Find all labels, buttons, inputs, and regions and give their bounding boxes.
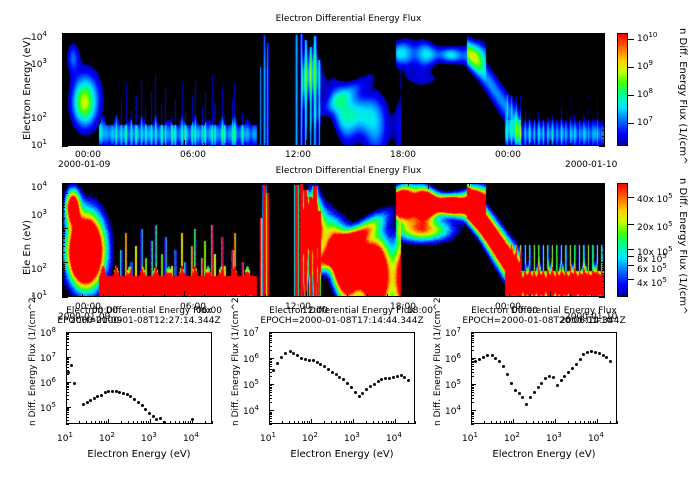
panel-mid-ytick-2: 102	[31, 262, 47, 275]
spectrum-yminor-tick	[471, 362, 474, 363]
panel-mid-xtick	[245, 183, 246, 186]
overlapping-axis-label: 18:00	[407, 306, 433, 316]
spectrum-yminor-tick	[471, 336, 474, 337]
spectrum-yminor-tick	[66, 414, 69, 415]
data-point	[498, 360, 501, 363]
data-point	[563, 375, 566, 378]
panel-mid-xtick	[530, 294, 531, 297]
panel-top-ytick	[62, 43, 68, 44]
spectrum-yminor-tick	[269, 416, 272, 417]
data-point	[548, 375, 551, 378]
spectrum-xtick-mark	[555, 419, 556, 424]
spectrum-xminor-tick	[491, 421, 492, 424]
panel-top-ytick-1: 103	[31, 57, 47, 70]
panel-top-xtick	[123, 143, 124, 146]
panel-top-xtick-3: 18:00	[390, 150, 416, 160]
panel-mid-ytick	[62, 238, 65, 239]
spectrum-xminor-tick	[408, 421, 409, 424]
spectrum-yminor-tick	[66, 383, 69, 384]
spectrum-xminor-tick	[511, 421, 512, 424]
spectrum-yminor-tick	[66, 386, 69, 387]
data-point	[567, 371, 570, 374]
spectrum-xminor-tick	[496, 421, 497, 424]
spectrum-xminor-tick	[212, 421, 213, 424]
data-point	[335, 373, 338, 376]
panel-top-xtick	[591, 143, 592, 146]
panel-top-ytick	[599, 78, 605, 79]
spectrum-xminor-tick	[351, 421, 352, 424]
panel-top-ytick	[62, 146, 68, 147]
data-point	[518, 392, 521, 395]
spectrum-ytick: 105	[445, 378, 461, 391]
panel-mid-ytick	[602, 266, 605, 267]
spectrum-xtick: 104	[386, 431, 402, 444]
data-point	[540, 382, 543, 385]
spectrum-xminor-tick	[143, 421, 144, 424]
spectrum-xminor-tick	[349, 421, 350, 424]
panel-mid-ytick	[602, 276, 605, 277]
spectrum-xtick-mark	[597, 419, 598, 424]
data-point	[292, 352, 295, 355]
data-point	[506, 373, 509, 376]
spectrum-xtick: 102	[302, 431, 318, 444]
panel-top-cbtick-1: 109	[637, 59, 653, 72]
panel-mid-ytick	[599, 262, 605, 263]
data-point	[350, 386, 353, 389]
spectrum-yminor-tick	[471, 340, 474, 341]
panel-top-xtick	[448, 33, 449, 36]
data-point	[300, 357, 303, 360]
panel-mid-colorbar-tick	[628, 249, 634, 250]
panel-mid-xtick	[245, 294, 246, 297]
spectrum-ylabel: n Diff. Energy Flux (1/(cm^2-	[231, 294, 241, 426]
spectrum-yminor-tick	[66, 387, 69, 388]
panel-top-ytick	[62, 57, 65, 58]
panel-mid-ytick	[602, 238, 605, 239]
data-point	[590, 350, 593, 353]
data-point	[384, 377, 387, 380]
spectrum-yminor-tick	[66, 399, 69, 400]
panel-mid-ytick	[62, 228, 68, 229]
spectrum-xminor-tick	[595, 421, 596, 424]
overlapping-axis-label: 00:00	[512, 306, 538, 316]
panel-mid-ytick	[602, 246, 605, 247]
data-point	[133, 398, 136, 401]
spectrum-xminor-tick	[617, 421, 618, 424]
spectrum-xminor-tick	[484, 421, 485, 424]
spectrum-plot-area[interactable]	[471, 332, 617, 424]
panel-top-ytick	[602, 49, 605, 50]
panel-top-xtick	[387, 143, 388, 146]
panel-mid-xtick	[469, 294, 470, 297]
panel-top-xtick-2: 12:00	[285, 150, 311, 160]
spectrum-yminor-tick	[471, 395, 474, 396]
spectrum-yminor-tick	[66, 336, 69, 337]
data-point	[289, 350, 292, 353]
spectrum-yminor-tick	[471, 402, 474, 403]
data-point	[365, 388, 368, 391]
spectrum-xminor-tick	[282, 421, 283, 424]
data-point	[502, 365, 505, 368]
spectrum-xminor-tick	[188, 421, 189, 424]
spectrum-yminor-tick	[471, 416, 474, 417]
panel-top-ytick	[602, 67, 605, 68]
spectrum-xtick: 104	[588, 431, 604, 444]
panel-top-ytick	[602, 113, 605, 114]
data-point	[73, 382, 76, 385]
spectrum-yminor-tick	[471, 398, 474, 399]
panel-mid-xtick	[489, 183, 490, 186]
spectrum-yminor-tick	[269, 342, 272, 343]
data-point	[316, 361, 319, 364]
spectrum-yminor-tick	[66, 342, 69, 343]
panel-top-xtick-0: 00:00	[75, 150, 101, 160]
spectrum-xminor-tick	[99, 421, 100, 424]
spectrum-yminor-tick	[66, 370, 69, 371]
data-point	[338, 376, 341, 379]
panel-mid-ytick	[602, 270, 605, 271]
panel-mid-xtick	[509, 294, 510, 297]
panel-top-cbtick-2: 108	[637, 87, 653, 100]
spectrum-ytick: 106	[243, 352, 259, 365]
panel-top-xtick	[326, 143, 327, 146]
overlapping-axis-label: 06:00	[196, 306, 222, 316]
spectrum-yminor-tick	[66, 409, 69, 410]
spectrum-xminor-tick	[336, 421, 337, 424]
panel-mid-xtick	[286, 183, 287, 186]
spectrum-yminor-tick	[471, 369, 474, 370]
panel-mid-xtick	[265, 294, 266, 297]
data-point	[491, 354, 494, 357]
data-point	[494, 357, 497, 360]
panel-mid-ytick	[602, 252, 605, 253]
spectrum-xminor-tick	[91, 421, 92, 424]
spectrum-xminor-tick	[393, 421, 394, 424]
panel-top-ytick	[62, 112, 68, 113]
panel-top-xtick	[286, 33, 287, 36]
spectrum-xminor-tick	[141, 421, 142, 424]
data-point	[609, 360, 612, 363]
panel-top-ytick	[602, 119, 605, 120]
panel-top-ytick	[62, 49, 65, 50]
panel-top-xtick	[265, 143, 266, 146]
spectrum-yminor-tick	[471, 412, 474, 413]
panel-top-xtick	[387, 33, 388, 36]
panel-mid-ytick	[602, 242, 605, 243]
data-point	[407, 379, 410, 382]
panel-mid-ytick	[62, 183, 65, 184]
panel-top-colorbar[interactable]	[617, 33, 628, 146]
panel-top-xtick	[570, 33, 571, 36]
spectrum-xtick-mark	[192, 419, 193, 424]
panel-mid-xtick	[225, 183, 226, 186]
data-point	[308, 359, 311, 362]
panel-mid-ytick	[62, 270, 65, 271]
panel-mid-ytick	[599, 228, 605, 229]
spectrum-xminor-tick	[548, 421, 549, 424]
spectrum-yminor-tick	[471, 392, 474, 393]
panel-top-ytick	[602, 57, 605, 58]
panel-top-xtick-1: 06:00	[180, 150, 206, 160]
panel-mid-xtick	[143, 294, 144, 297]
panel-top-xtick	[103, 33, 104, 36]
data-point	[400, 374, 403, 377]
spectrum-ytick: 105	[40, 401, 56, 414]
panel-top-xtick	[204, 143, 205, 146]
panel-top-xtick	[448, 143, 449, 146]
data-point	[284, 352, 287, 355]
data-point	[354, 391, 357, 394]
spectrum-yminor-tick	[471, 424, 474, 425]
panel-mid-ytick	[602, 231, 605, 232]
panel-mid-ytick	[62, 266, 65, 267]
panel-top-xtick	[123, 33, 124, 36]
panel-mid-xtick	[570, 183, 571, 186]
panel-top-xtick	[509, 143, 510, 146]
spectrum-yminor-tick	[269, 392, 272, 393]
spectrum-xminor-tick	[307, 421, 308, 424]
spectrum-xminor-tick	[133, 421, 134, 424]
spectrum-yminor-tick	[471, 414, 474, 415]
panel-mid-xtick	[82, 294, 83, 297]
spectrum-xminor-tick	[593, 421, 594, 424]
panel-mid-xtick	[408, 294, 409, 297]
panel-top-xtick	[408, 33, 409, 36]
panel-mid-xtick	[103, 183, 104, 186]
spectrum-xminor-tick	[86, 421, 87, 424]
spectrum-xtick: 104	[183, 431, 199, 444]
panel-mid-title: Electron Differential Energy Flux	[0, 166, 697, 176]
panel-mid-xtick	[143, 183, 144, 186]
spectrum-xminor-tick	[533, 421, 534, 424]
spectrum-xminor-tick	[504, 421, 505, 424]
spectrum-xminor-tick	[538, 421, 539, 424]
spectrum-xminor-tick	[551, 421, 552, 424]
panel-mid-ytick	[62, 201, 65, 202]
data-point	[280, 356, 283, 359]
panel-top-ytick	[62, 130, 65, 131]
panel-mid-xtick	[570, 294, 571, 297]
spectrum-plot-area[interactable]	[66, 332, 212, 424]
panel-mid-ytick	[62, 230, 65, 231]
data-point	[319, 363, 322, 366]
spectrum-xtick-mark	[108, 419, 109, 424]
panel-top-xtick	[306, 140, 307, 146]
spectrum-xminor-tick	[373, 421, 374, 424]
data-point	[396, 375, 399, 378]
spectrum-xminor-tick	[170, 421, 171, 424]
spectrum-yminor-tick	[269, 359, 272, 360]
spectrum-xtick: 102	[99, 431, 115, 444]
spectrum-xminor-tick	[500, 421, 501, 424]
spectrum-yminor-tick	[269, 385, 272, 386]
panel-mid-xtick	[82, 183, 83, 186]
spectrum-plot-area[interactable]	[269, 332, 415, 424]
spectrum-xminor-tick	[183, 421, 184, 424]
spectrum-xminor-tick	[568, 421, 569, 424]
data-point	[560, 379, 563, 382]
panel-top-colorbar-label: n Diff. Energy Flux (1/(cm^	[677, 28, 688, 165]
overlapping-axis-label: 2000-01-10	[560, 316, 612, 326]
panel-top-ytick	[602, 33, 605, 34]
spectrum-yminor-tick	[66, 358, 69, 359]
data-point	[276, 362, 279, 365]
data-point	[89, 399, 92, 402]
panel-top-spectrogram[interactable]	[62, 33, 605, 146]
panel-mid-xtick	[387, 294, 388, 297]
panel-mid-cbtick-1: 20x 105	[637, 220, 673, 233]
spectrum-yminor-tick	[66, 417, 69, 418]
spectrum-ytick: 107	[40, 351, 56, 364]
data-point	[602, 354, 605, 357]
panel-mid-ytick	[62, 197, 65, 198]
panel-mid-ytick	[599, 193, 605, 194]
spectrum-xminor-tick	[331, 421, 332, 424]
spectrum-xminor-tick	[346, 421, 347, 424]
panel-mid-spectrogram[interactable]	[62, 183, 605, 297]
spectrum-yminor-tick	[269, 372, 272, 373]
data-point	[361, 392, 364, 395]
panel-top-ytick	[599, 43, 605, 44]
spectrum-yminor-tick	[269, 366, 272, 367]
data-point	[323, 365, 326, 368]
spectrum-yminor-tick	[66, 364, 69, 365]
spectrum-xminor-tick	[128, 421, 129, 424]
spectrum-yminor-tick	[269, 340, 272, 341]
data-point	[373, 383, 376, 386]
panel-mid-xtick	[408, 183, 409, 186]
panel-mid-colorbar-tick	[628, 256, 634, 257]
panel-top-xtick	[509, 33, 510, 36]
spectrum-yminor-tick	[66, 334, 69, 335]
panel-top-xtick	[550, 140, 551, 146]
data-point	[486, 354, 489, 357]
spectrum-xtick: 101	[57, 431, 73, 444]
spectrum-yminor-tick	[269, 412, 272, 413]
panel-top-xtick	[204, 33, 205, 36]
spectrum-xminor-tick	[391, 421, 392, 424]
overlapping-axis-label: 12:00	[302, 306, 328, 316]
panel-mid-colorbar-tick	[628, 265, 634, 266]
spectrum-yminor-tick	[471, 364, 474, 365]
panel-top-xtick	[164, 33, 165, 36]
panel-top-ytick	[602, 79, 605, 80]
panel-top-xtick	[367, 33, 368, 36]
spectrum-yminor-tick	[269, 424, 272, 425]
data-point	[122, 392, 125, 395]
overlapping-axis-label: 2000-01-09	[70, 316, 122, 326]
panel-top-ylabel: Electron Energy (eV)	[22, 37, 33, 140]
spectrum-xminor-tick	[190, 421, 191, 424]
panel-top-xtick	[225, 143, 226, 146]
data-point	[403, 376, 406, 379]
panel-mid-colorbar[interactable]	[617, 183, 628, 297]
spectrum-xminor-tick	[101, 421, 102, 424]
spectrum-yminor-tick	[269, 369, 272, 370]
panel-top-xtick	[530, 33, 531, 36]
data-point	[478, 358, 481, 361]
data-point	[96, 395, 99, 398]
panel-mid-ytick	[62, 287, 65, 288]
panel-mid-ytick	[62, 281, 65, 282]
panel-top-xtick	[428, 33, 429, 39]
data-point	[107, 390, 110, 393]
panel-top-xtick	[143, 33, 144, 36]
panel-top-xtick	[367, 143, 368, 146]
data-point	[346, 382, 349, 385]
spectrum-xtick: 103	[141, 431, 157, 444]
spectrum-yminor-tick	[471, 350, 474, 351]
panel-mid-xtick	[103, 294, 104, 297]
spectrum-ytick: 104	[243, 404, 259, 417]
panel-top-xtick	[306, 33, 307, 39]
spectrum-xminor-tick	[289, 421, 290, 424]
panel-mid-ytick	[602, 197, 605, 198]
data-point	[594, 351, 597, 354]
panel-top-xtick-4: 00:00	[495, 150, 521, 160]
panel-top-xtick	[245, 143, 246, 146]
panel-top-xtick	[408, 143, 409, 146]
panel-top-ytick	[62, 33, 65, 34]
panel-top-ytick	[602, 117, 605, 118]
panel-mid-ytick	[62, 233, 65, 234]
panel-mid-xtick	[123, 294, 124, 297]
spectrum-xminor-tick	[106, 421, 107, 424]
spectrum-yminor-tick	[66, 361, 69, 362]
spectrum-yminor-tick	[66, 338, 69, 339]
spectrum-yminor-tick	[269, 362, 272, 363]
spectrum-yminor-tick	[66, 424, 69, 425]
panel-top-ytick	[599, 112, 605, 113]
spectrum-xminor-tick	[590, 421, 591, 424]
panel-top-ytick-0: 104	[31, 30, 47, 43]
spectrum-yminor-tick	[269, 395, 272, 396]
spectrum-yminor-tick	[269, 414, 272, 415]
panel-top-ytick	[62, 79, 65, 80]
panel-mid-ytick	[62, 273, 65, 274]
panel-mid-ytick	[62, 207, 65, 208]
data-point	[327, 368, 330, 371]
panel-mid-xtick	[347, 183, 348, 186]
panel-top-ytick	[62, 101, 65, 102]
spectrum-yminor-tick	[269, 335, 272, 336]
data-point	[582, 353, 585, 356]
data-point	[126, 393, 129, 396]
panel-top-ytick	[62, 45, 65, 46]
spectrum-ytick: 105	[243, 378, 259, 391]
panel-mid-xtick	[509, 183, 510, 186]
panel-mid-xtick	[164, 294, 165, 297]
panel-mid-ytick-1: 103	[31, 208, 47, 221]
data-point	[529, 396, 532, 399]
panel-mid-ytick	[602, 204, 605, 205]
panel-mid-xtick	[591, 183, 592, 186]
spectrum-ytick: 108	[40, 326, 56, 339]
spectrum-xminor-tick	[148, 421, 149, 424]
panel-mid-xtick	[550, 183, 551, 189]
panel-top-ytick	[62, 81, 65, 82]
panel-mid-ytick	[62, 236, 65, 237]
spectrum-yminor-tick	[471, 333, 474, 334]
spectrum-yminor-tick	[66, 410, 69, 411]
panel-mid-colorbar-tick	[628, 279, 634, 280]
panel-top-xtick	[469, 143, 470, 146]
panel-top-cbtick-3: 107	[637, 115, 653, 128]
panel-top-ytick	[599, 146, 605, 147]
panel-mid-cbtick-4: 6x 105	[637, 262, 667, 275]
spectrum-xminor-tick	[588, 421, 589, 424]
spectrum-xminor-tick	[388, 421, 389, 424]
